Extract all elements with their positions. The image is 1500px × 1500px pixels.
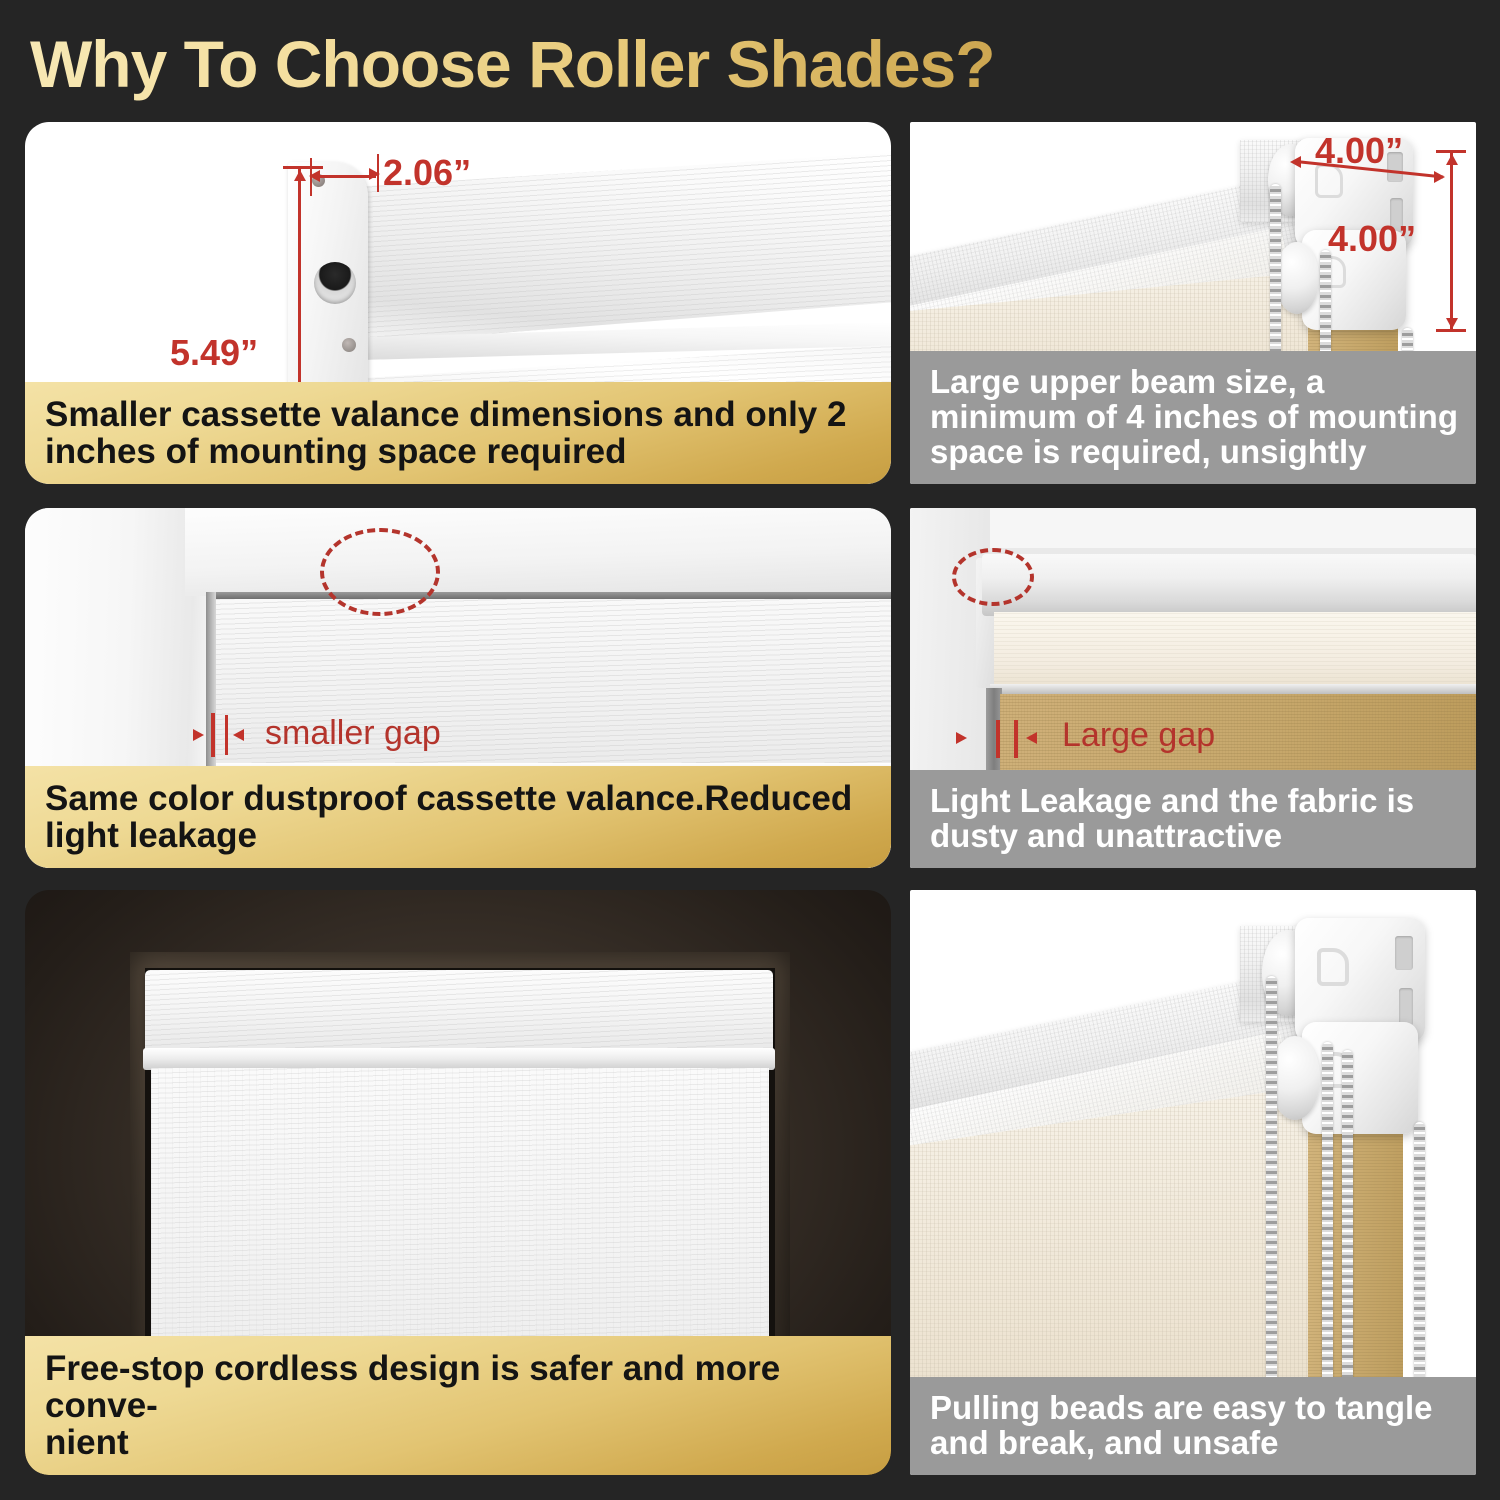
- caption-dustproof-cassette-valance: Same color dustproof cassette valance.Re…: [25, 766, 891, 868]
- bead-chain[interactable]: [1414, 1122, 1425, 1416]
- caption-line: minimum of 4 inches of mounting: [930, 400, 1458, 435]
- panel-free-stop-cordless-design: Free-stop cordless design is safer and m…: [25, 890, 891, 1475]
- panel-pulling-beads-tangle: Pulling beads are easy to tangle and bre…: [910, 890, 1476, 1475]
- caption-light-leakage-dusty-fabric: Light Leakage and the fabric is dusty an…: [910, 770, 1476, 868]
- gap-marker-line-2: [1014, 720, 1018, 758]
- caption-line: dusty and unattractive: [930, 819, 1458, 854]
- height-dimension-label: 5.49”: [170, 332, 258, 374]
- caption-pulling-beads-tangle: Pulling beads are easy to tangle and bre…: [910, 1377, 1476, 1475]
- beam-width-arrow-left: [1290, 156, 1301, 168]
- width-dim-arrow-left: [309, 170, 320, 182]
- cassette-headrail: [145, 970, 773, 1055]
- caption-line: Same color dustproof cassette valance.Re…: [45, 780, 873, 817]
- caption-line: Large upper beam size, a: [930, 365, 1458, 400]
- beam-height-arrow-up: [1446, 154, 1458, 165]
- gap-arrow-right: [193, 729, 204, 741]
- roller-shade-fabric: [151, 1068, 769, 1380]
- gap-arrow-right: [956, 732, 967, 744]
- height-dim-tick-top: [283, 166, 323, 169]
- gap-marker-line: [996, 720, 1000, 758]
- beam-height-tick-top: [1436, 150, 1466, 153]
- gap-marker-line-2: [225, 715, 228, 755]
- large-gap-label: Large gap: [1062, 716, 1215, 755]
- caption-line: light leakage: [45, 817, 873, 854]
- caption-line: and break, and unsafe: [930, 1426, 1458, 1461]
- panel-light-leakage-dusty-fabric: Large gap Light Leakage and the fabric i…: [910, 508, 1476, 868]
- caption-free-stop-cordless-design: Free-stop cordless design is safer and m…: [25, 1336, 891, 1475]
- caption-line: nient: [45, 1424, 873, 1461]
- highlight-circle-annotation: [952, 548, 1034, 606]
- roller-end-lower-icon: [1275, 242, 1319, 314]
- width-dim-line: [314, 175, 376, 178]
- bead-chain[interactable]: [1322, 1042, 1333, 1416]
- caption-line: space is required, unsightly: [930, 435, 1458, 470]
- caption-line: Pulling beads are easy to tangle: [930, 1391, 1458, 1426]
- bead-chain[interactable]: [1342, 1050, 1353, 1416]
- gap-marker-line: [211, 713, 215, 757]
- beam-height-label: 4.00”: [1328, 218, 1416, 260]
- height-dim-arrow-up: [294, 170, 306, 181]
- gap-arrow-left: [233, 729, 244, 741]
- page-title: Why To Choose Roller Shades?: [30, 20, 1230, 108]
- beam-height-dim-line: [1450, 152, 1453, 332]
- caption-line: Free-stop cordless design is safer and m…: [45, 1350, 873, 1424]
- caption-large-upper-beam: Large upper beam size, a minimum of 4 in…: [910, 351, 1476, 484]
- smaller-gap-label: smaller gap: [265, 714, 441, 753]
- beam-width-arrow-right: [1434, 171, 1445, 183]
- roller-end-lower-icon: [1270, 1036, 1320, 1120]
- caption-line: Light Leakage and the fabric is: [930, 784, 1458, 819]
- caption-line: Smaller cassette valance dimensions and …: [45, 396, 873, 433]
- panel-dustproof-cassette-valance: smaller gap Same color dustproof cassett…: [25, 508, 891, 868]
- width-dimension-label: 2.06”: [383, 152, 471, 194]
- caption-line: inches of mounting space required: [45, 433, 873, 470]
- bead-chain[interactable]: [1266, 976, 1277, 1416]
- caption-cassette-valance-dimensions: Smaller cassette valance dimensions and …: [25, 382, 891, 484]
- width-dim-arrow-right: [369, 168, 380, 180]
- beam-height-tick-bottom: [1436, 329, 1466, 332]
- panel-large-upper-beam: 4.00” 4.00” Large upper beam size, a min…: [910, 122, 1476, 484]
- beam-width-label: 4.00”: [1315, 130, 1403, 172]
- gap-arrow-left: [1026, 732, 1037, 744]
- panel-cassette-valance-dimensions: 2.06” 5.49” Smaller cassette valance dim…: [25, 122, 891, 484]
- highlight-circle-annotation: [320, 528, 440, 616]
- beam-height-arrow-down: [1446, 318, 1458, 329]
